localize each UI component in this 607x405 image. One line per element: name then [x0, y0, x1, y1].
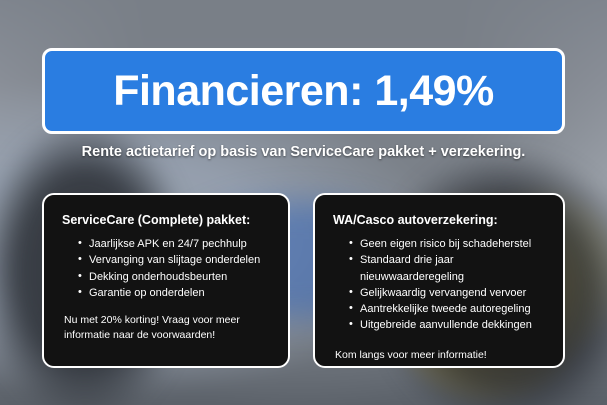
- list-item: Vervanging van slijtage onderdelen: [78, 252, 272, 268]
- headline-text: Financieren: 1,49%: [113, 70, 494, 113]
- servicecare-feature-list: Jaarlijkse APK en 24/7 pechhulp Vervangi…: [62, 236, 272, 301]
- list-item: Geen eigen risico bij schadeherstel: [349, 236, 547, 252]
- subtitle-text: Rente actietarief op basis van ServiceCa…: [0, 144, 607, 160]
- insurance-card-title: WA/Casco autoverzekering:: [333, 213, 547, 228]
- insurance-card-footer: Kom langs voor meer informatie!: [333, 348, 547, 363]
- list-item: Aantrekkelijke tweede autoregeling: [349, 301, 547, 317]
- list-item: Garantie op onderdelen: [78, 285, 272, 301]
- promo-poster: Financieren: 1,49% Rente actietarief op …: [0, 0, 607, 405]
- list-item: Gelijkwaardig vervangend vervoer: [349, 285, 547, 301]
- headline-banner: Financieren: 1,49%: [42, 48, 565, 134]
- list-item: Standaard drie jaar nieuwwaarderegeling: [349, 252, 547, 285]
- insurance-feature-list: Geen eigen risico bij schadeherstel Stan…: [333, 236, 547, 334]
- list-item: Jaarlijkse APK en 24/7 pechhulp: [78, 236, 272, 252]
- servicecare-card-footer: Nu met 20% korting! Vraag voor meer info…: [62, 313, 272, 343]
- servicecare-card-title: ServiceCare (Complete) pakket:: [62, 213, 272, 228]
- list-item: Dekking onderhoudsbeurten: [78, 269, 272, 285]
- insurance-card: WA/Casco autoverzekering: Geen eigen ris…: [313, 193, 565, 368]
- servicecare-card: ServiceCare (Complete) pakket: Jaarlijks…: [42, 193, 290, 368]
- list-item: Uitgebreide aanvullende dekkingen: [349, 317, 547, 333]
